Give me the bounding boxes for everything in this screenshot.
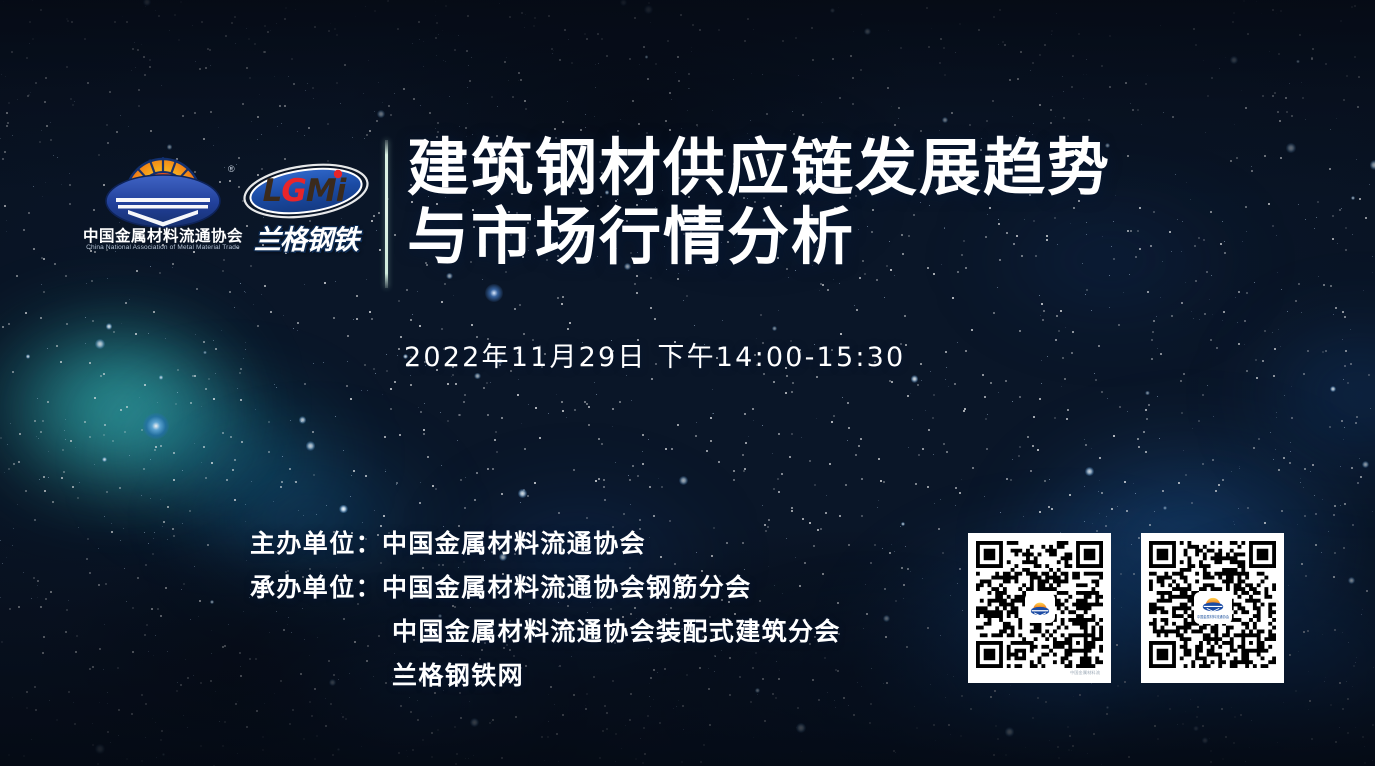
camt-logo: CAMT ® 中国金属材料流通协会 China National Associa… <box>78 152 248 260</box>
organizers-block: 主办单位：中国金属材料流通协会承办单位：中国金属材料流通协会钢筋分会中国金属材料… <box>250 522 841 698</box>
camt-emblem-icon: CAMT <box>104 152 222 228</box>
qr-left-center-logo <box>1027 595 1053 621</box>
qr-code-left-canvas: 中国金属材料流 <box>976 541 1103 675</box>
title-line-2: 与市场行情分析 <box>407 200 855 273</box>
svg-text:LGMi: LGMi <box>263 173 347 209</box>
camt-name-cn: 中国金属材料流通协会 <box>78 224 248 246</box>
qr-code-right-canvas: 中国金属材料流通协会 <box>1149 541 1276 675</box>
event-datetime: 2022年11月29日 下午14:00-15:30 <box>404 335 905 374</box>
lgmi-emblem-icon: LGMi <box>242 160 370 222</box>
event-poster: CAMT ® 中国金属材料流通协会 China National Associa… <box>0 0 1375 766</box>
organizer-line: 中国金属材料流通协会装配式建筑分会 <box>250 610 841 654</box>
qr-code-left[interactable]: 中国金属材料流 <box>968 533 1111 683</box>
page-title: 建筑钢材供应链发展趋势 与市场行情分析 <box>407 133 1111 272</box>
lgmi-name-cn: 兰格钢铁 <box>242 218 370 257</box>
organizer-line: 兰格钢铁网 <box>250 654 841 698</box>
organizer-line: 主办单位：中国金属材料流通协会 <box>250 522 841 566</box>
qr-code-right[interactable]: 中国金属材料流通协会 <box>1141 533 1284 683</box>
qr-left-watermark: 中国金属材料流 <box>1070 670 1100 676</box>
lgmi-logo: LGMi 兰格钢铁 <box>242 160 370 260</box>
qr-right-center-logo: 中国金属材料流通协会 <box>1196 594 1230 622</box>
organizer-line: 承办单位：中国金属材料流通协会钢筋分会 <box>250 566 841 610</box>
title-divider <box>385 140 388 288</box>
camt-name-en: China National Association of Metal Mate… <box>76 244 249 251</box>
camt-registered-icon: ® <box>228 164 235 174</box>
title-line-1: 建筑钢材供应链发展趋势 <box>407 131 1111 204</box>
qr-right-center-label: 中国金属材料流通协会 <box>1196 614 1228 619</box>
